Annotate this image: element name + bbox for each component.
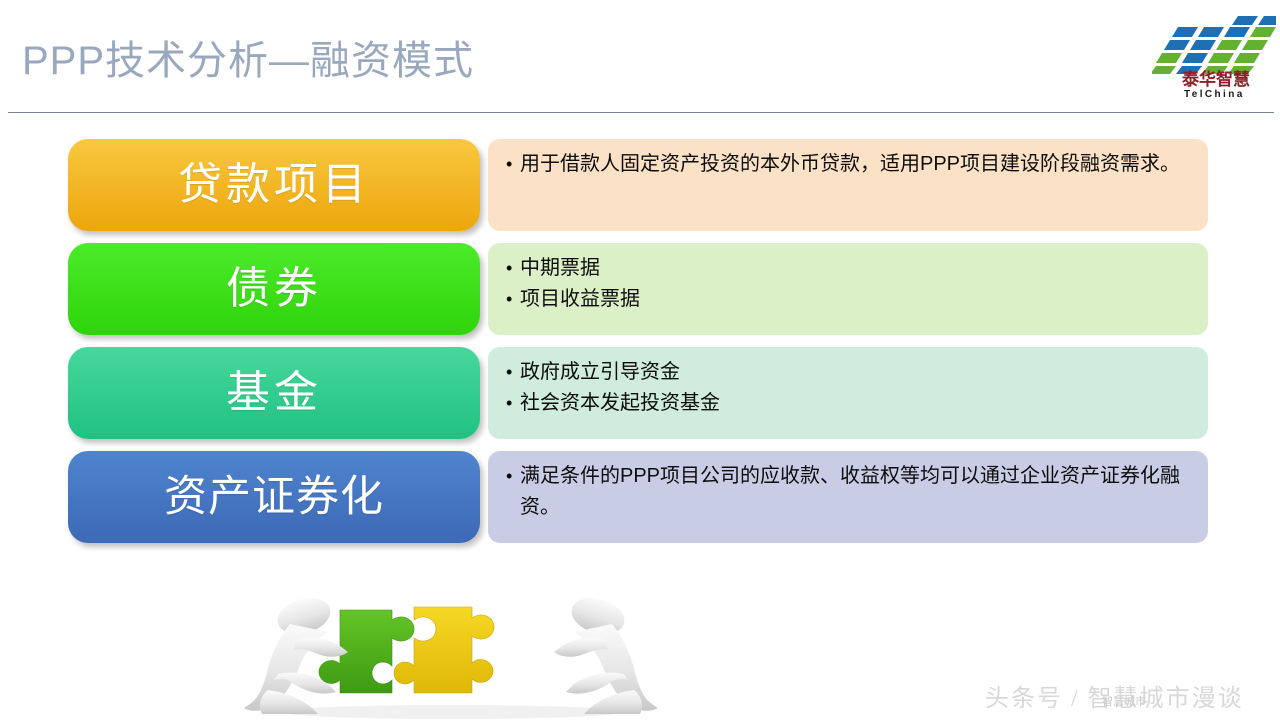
logo-tile-row-2 [1156, 53, 1260, 63]
category-label-abs: 资产证券化 [164, 476, 384, 519]
detail-panel-abs: • 满足条件的PPP项目公司的应收款、收益权等均可以通过企业资产证券化融资。 [488, 451, 1208, 543]
watermark-sub-text: 智慧城市 [1102, 693, 1146, 709]
logo-tile-row-3 [1164, 40, 1268, 50]
bullet-text: 中期票据 [520, 253, 1194, 284]
bullet-dot-icon: • [506, 253, 520, 284]
detail-panel-loan: • 用于借款人固定资产投资的本外币贷款，适用PPP项目建设阶段融资需求。 [488, 139, 1208, 231]
bullet-item: • 政府成立引导资金 [506, 357, 1194, 388]
bullet-item: • 中期票据 [506, 253, 1194, 284]
category-label-bond: 债券 [226, 267, 322, 311]
bullet-text: 社会资本发起投资基金 [520, 388, 1194, 419]
bullet-dot-icon: • [506, 388, 520, 419]
detail-panel-bond: • 中期票据 • 项目收益票据 [488, 243, 1208, 335]
bullet-text: 项目收益票据 [520, 284, 1194, 315]
bullet-item: • 项目收益票据 [506, 284, 1194, 315]
page-title: PPP技术分析—融资模式 [22, 28, 474, 86]
scene-shadow [282, 705, 622, 719]
category-label-loan: 贷款项目 [178, 163, 370, 207]
slide-header: PPP技术分析—融资模式 [0, 0, 1280, 113]
logo-name-cn: 泰华智慧 [1182, 72, 1250, 89]
header-divider [8, 112, 1274, 113]
category-label-fund: 基金 [226, 371, 322, 415]
logo-tile-row-5 [1232, 16, 1276, 25]
bullet-item: • 用于借款人固定资产投资的本外币贷款，适用PPP项目建设阶段融资需求。 [506, 149, 1194, 180]
logo-name-en: TelChina [1184, 90, 1245, 100]
bullet-dot-icon: • [506, 149, 520, 180]
category-pill-abs[interactable]: 资产证券化 [68, 451, 480, 543]
logo-tiles-icon [1152, 14, 1276, 74]
figure-left [244, 592, 348, 714]
bullet-dot-icon: • [506, 284, 520, 315]
bullet-text: 满足条件的PPP项目公司的应收款、收益权等均可以通过企业资产证券化融资。 [520, 461, 1194, 523]
category-pill-bond[interactable]: 债券 [68, 243, 480, 335]
bullet-dot-icon: • [506, 461, 520, 492]
bullet-item: • 满足条件的PPP项目公司的应收款、收益权等均可以通过企业资产证券化融资。 [506, 461, 1194, 523]
detail-panel-fund: • 政府成立引导资金 • 社会资本发起投资基金 [488, 347, 1208, 439]
figure-right [554, 592, 658, 714]
bullet-text: 用于借款人固定资产投资的本外币贷款，适用PPP项目建设阶段融资需求。 [520, 149, 1194, 180]
category-pill-fund[interactable]: 基金 [68, 347, 480, 439]
brand-logo: 泰华智慧 TelChina [1152, 14, 1276, 106]
bullet-dot-icon: • [506, 357, 520, 388]
logo-tile-row-4 [1172, 27, 1276, 37]
bullet-text: 政府成立引导资金 [520, 357, 1194, 388]
category-pill-loan[interactable]: 贷款项目 [68, 139, 480, 231]
bullet-item: • 社会资本发起投资基金 [506, 388, 1194, 419]
puzzle-teamwork-illustration [232, 566, 672, 720]
